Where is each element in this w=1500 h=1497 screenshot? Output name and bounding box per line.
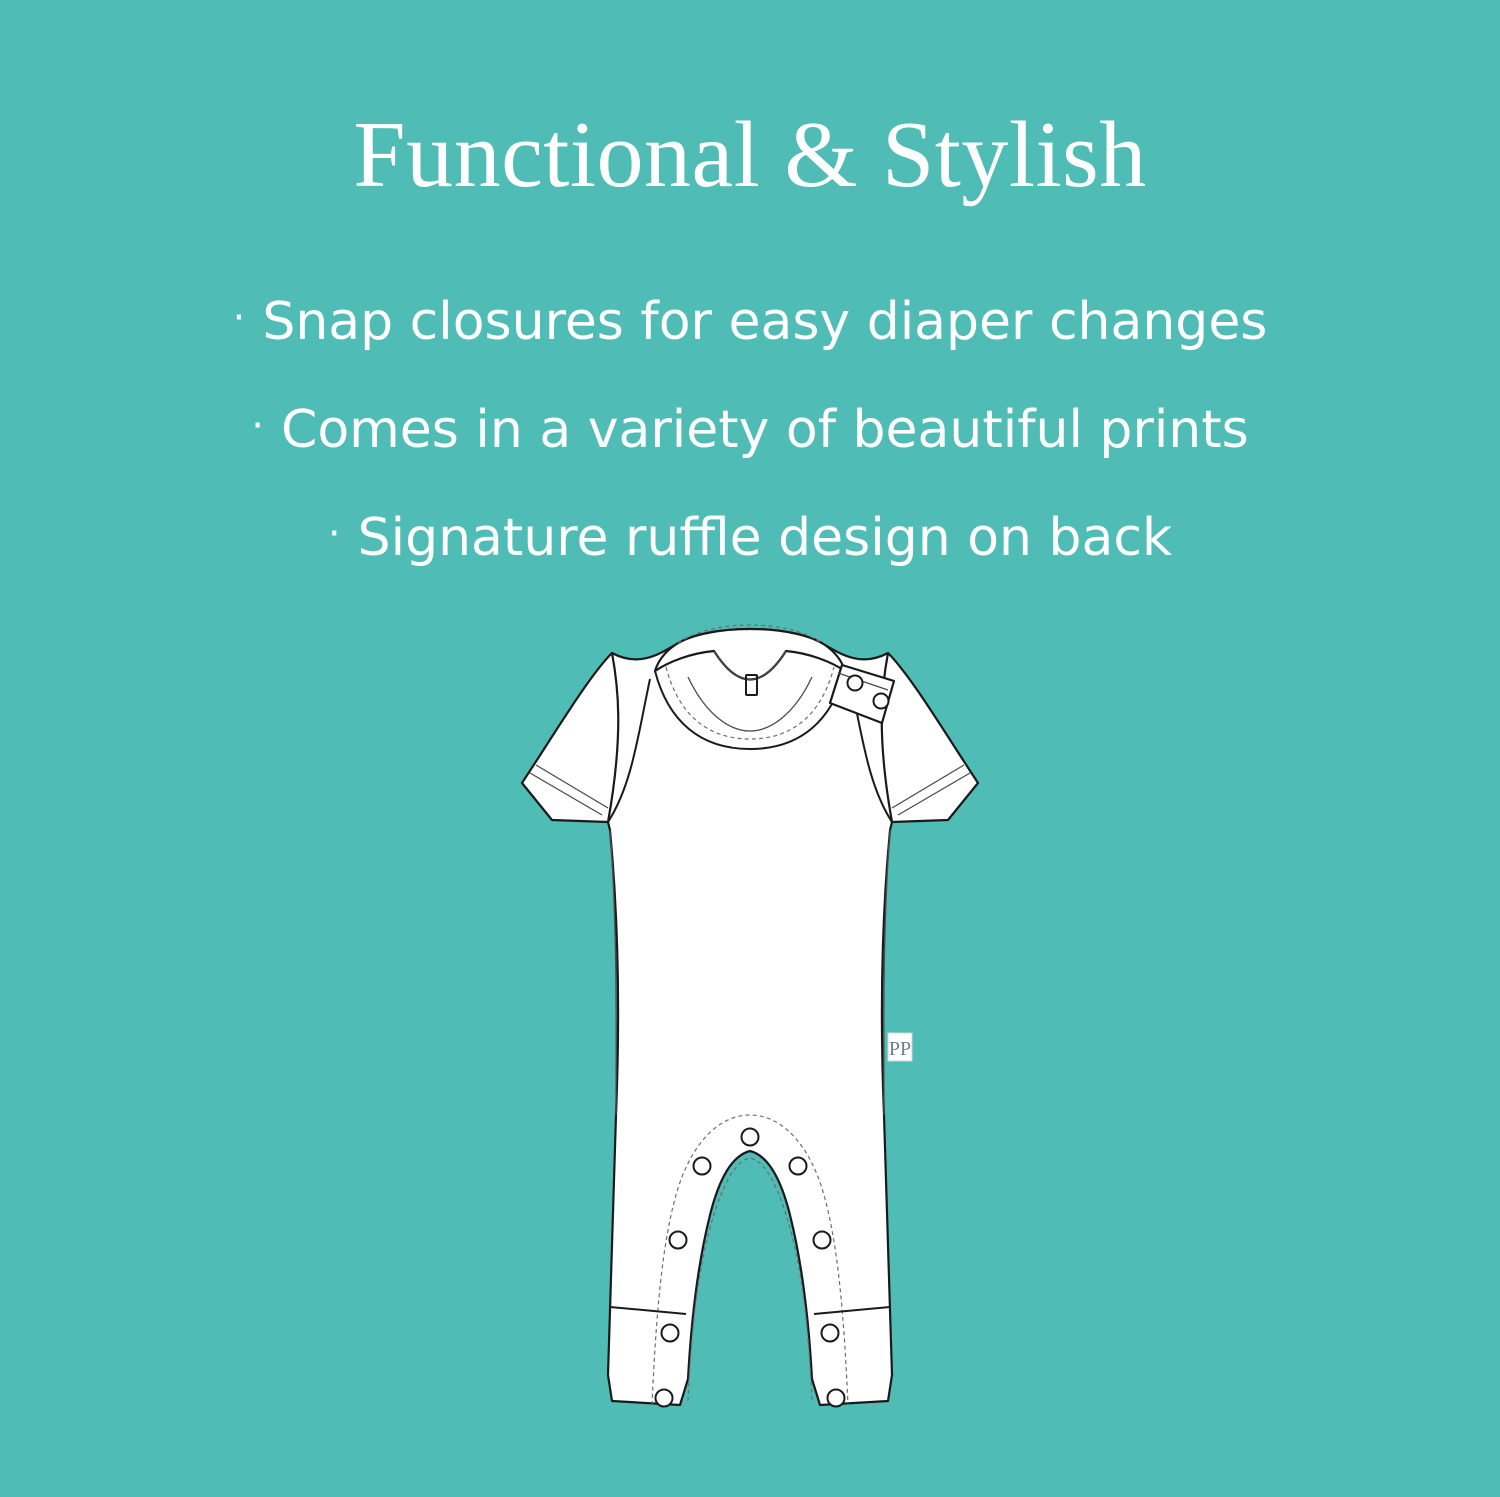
bullet-dot-icon: ·	[233, 298, 246, 338]
crotch-snap[interactable]	[790, 1158, 807, 1175]
list-item: · Signature ruffle design on back	[0, 484, 1500, 592]
shoulder-snap[interactable]	[848, 676, 863, 691]
crotch-snap[interactable]	[742, 1129, 759, 1146]
baby-romper-flat-sketch: .body-fill { fill:#ffffff; stroke:#1a1a1…	[490, 615, 1010, 1460]
crotch-snap[interactable]	[670, 1232, 687, 1249]
leg-cuff-snap[interactable]	[828, 1390, 845, 1407]
list-item-label: Comes in a variety of beautiful prints	[281, 399, 1249, 461]
romper-body	[608, 629, 892, 1405]
product-illustration: .body-fill { fill:#ffffff; stroke:#1a1a1…	[490, 615, 1010, 1460]
bullet-dot-icon: ·	[328, 514, 341, 554]
list-item: · Snap closures for easy diaper changes	[0, 268, 1500, 376]
brand-tag: PP	[888, 1033, 912, 1061]
brand-tag-monogram: PP	[889, 1038, 911, 1060]
list-item-label: Snap closures for easy diaper changes	[262, 291, 1267, 353]
list-item-label: Signature ruffle design on back	[358, 507, 1172, 569]
feature-bullet-list: · Snap closures for easy diaper changes …	[0, 268, 1500, 592]
shoulder-snap[interactable]	[874, 694, 889, 709]
infographic-canvas: Functional & Stylish · Snap closures for…	[0, 0, 1500, 1497]
page-title: Functional & Stylish	[0, 103, 1500, 207]
crotch-snap[interactable]	[694, 1158, 711, 1175]
crotch-snap[interactable]	[814, 1232, 831, 1249]
leg-cuff-snap[interactable]	[822, 1325, 839, 1342]
leg-cuff-snap[interactable]	[656, 1390, 673, 1407]
leg-cuff-snap[interactable]	[662, 1325, 679, 1342]
text-block: Functional & Stylish · Snap closures for…	[0, 0, 1500, 600]
list-item: · Comes in a variety of beautiful prints	[0, 376, 1500, 484]
bullet-dot-icon: ·	[251, 406, 264, 446]
